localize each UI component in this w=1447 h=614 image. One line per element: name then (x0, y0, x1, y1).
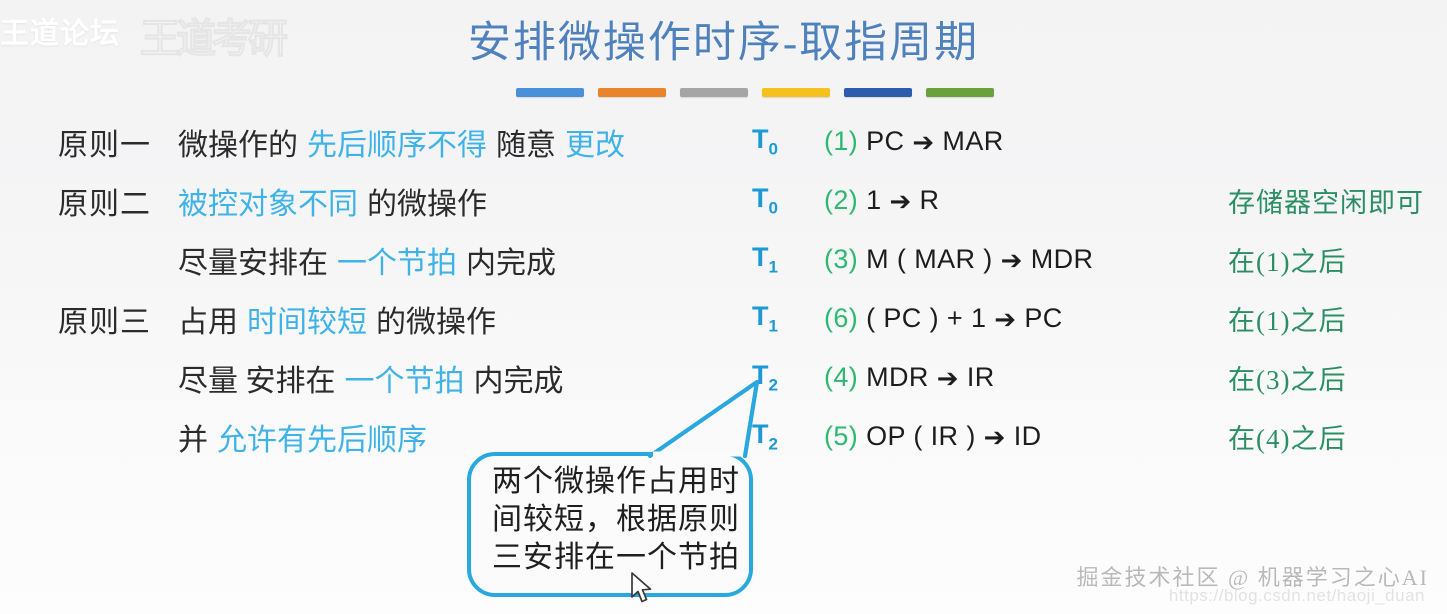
principle-plain: 内完成 (466, 247, 556, 280)
clock-cycle-label: T0 (752, 183, 824, 218)
principle-plain: 尽量安排在 (178, 247, 328, 280)
clock-letter: T (752, 183, 769, 213)
principle-row: 原则一微操作的先后顺序不得随意更改 (58, 112, 758, 171)
principle-plain: 尽量 安排在 (178, 365, 336, 398)
microop-note: 在(1)之后 (1228, 240, 1346, 279)
principle-text: 被控对象不同的微操作 (178, 179, 487, 223)
microop-note: 在(4)之后 (1228, 417, 1346, 456)
right-arrow-icon: ➔ (994, 305, 1016, 335)
microop-source: PC (866, 126, 904, 156)
principle-plain: 随意 (496, 129, 556, 162)
principle-plain: 微操作的 (178, 129, 298, 162)
principle-text: 尽量安排在一个节拍内完成 (178, 238, 556, 282)
principle-highlight: 更改 (565, 129, 625, 162)
clock-subscript: 1 (769, 257, 778, 276)
microop-source: MDR (866, 362, 929, 392)
clock-cycle-label: T0 (752, 124, 824, 159)
watermark-url: https://blog.csdn.net/haoji_duan (1169, 586, 1425, 606)
accent-bar-4 (762, 88, 830, 97)
microop-destination: IR (967, 362, 995, 392)
page-title: 安排微操作时序-取指周期 (0, 8, 1447, 70)
microop-expression: (1) PC ➔ MAR (824, 126, 1228, 157)
microop-source: 1 (866, 185, 881, 215)
principle-text: 并允许有先后顺序 (178, 415, 427, 459)
microop-note: 存储器空闲即可 (1228, 181, 1424, 220)
principle-row: 原则三占用时间较短的微操作 (58, 289, 758, 348)
microop-source: ( PC ) + 1 (866, 303, 986, 333)
microop-row: T0(2) 1 ➔ R存储器空闲即可 (752, 171, 1424, 230)
principle-plain: 占用 (178, 306, 238, 339)
microop-row: T0(1) PC ➔ MAR (752, 112, 1424, 171)
microop-expression: (3) M ( MAR ) ➔ MDR (824, 244, 1228, 275)
callout-line-3: 三安排在一个节拍 (492, 539, 742, 577)
principle-label: 原则二 (58, 179, 178, 223)
principle-highlight: 一个节拍 (345, 365, 465, 398)
clock-letter: T (752, 124, 769, 154)
clock-cycle-label: T1 (752, 301, 824, 336)
clock-letter: T (752, 301, 769, 331)
accent-bar-5 (844, 88, 912, 97)
microop-destination: PC (1024, 303, 1062, 333)
microop-expression: (5) OP ( IR ) ➔ ID (824, 421, 1228, 452)
accent-bar-group (516, 88, 994, 97)
microop-row: T2(5) OP ( IR ) ➔ ID在(4)之后 (752, 407, 1424, 466)
principle-plain: 的微操作 (376, 306, 496, 339)
principle-highlight: 先后顺序不得 (307, 129, 487, 162)
slide-canvas: 王道考研 王道论坛 安排微操作时序-取指周期 原则一微操作的先后顺序不得随意更改… (0, 0, 1447, 614)
microop-destination: MAR (942, 126, 1003, 156)
clock-letter: T (752, 242, 769, 272)
microop-source: M ( MAR ) (866, 244, 993, 274)
mouse-cursor-icon (630, 572, 656, 606)
principle-highlight: 时间较短 (247, 306, 367, 339)
microop-note: 在(3)之后 (1228, 358, 1346, 397)
principle-plain: 的微操作 (367, 188, 487, 221)
microop-row: T1(6) ( PC ) + 1 ➔ PC在(1)之后 (752, 289, 1424, 348)
callout-line-1: 两个微操作占用时 (492, 463, 742, 501)
right-arrow-icon: ➔ (984, 423, 1006, 453)
accent-bar-1 (516, 88, 584, 97)
microop-destination: R (920, 185, 940, 215)
principle-plain: 并 (178, 424, 208, 457)
microop-destination: ID (1014, 421, 1042, 451)
accent-bar-3 (680, 88, 748, 97)
callout-line-2: 间较短，根据原则 (492, 501, 742, 539)
callout-bubble: 两个微操作占用时 间较短，根据原则 三安排在一个节拍 (455, 360, 785, 610)
microop-number: (2) (824, 185, 858, 215)
right-arrow-icon: ➔ (889, 187, 911, 217)
right-arrow-icon: ➔ (912, 128, 934, 158)
principle-highlight: 一个节拍 (337, 247, 457, 280)
microop-number: (6) (824, 303, 858, 333)
microop-destination: MDR (1031, 244, 1094, 274)
accent-bar-6 (926, 88, 994, 97)
principle-text: 占用时间较短的微操作 (178, 297, 496, 341)
principle-highlight: 被控对象不同 (178, 188, 358, 221)
microop-number: (3) (824, 244, 858, 274)
microop-source: OP ( IR ) (866, 421, 976, 451)
principle-label: 原则一 (58, 120, 178, 164)
clock-subscript: 1 (769, 316, 778, 335)
principle-row: 原则二被控对象不同的微操作 (58, 171, 758, 230)
microop-note: 在(1)之后 (1228, 299, 1346, 338)
callout-text: 两个微操作占用时 间较短，根据原则 三安排在一个节拍 (492, 463, 742, 577)
clock-subscript: 0 (769, 198, 778, 217)
right-arrow-icon: ➔ (1001, 246, 1023, 276)
microop-number: (4) (824, 362, 858, 392)
microop-row: T2(4) MDR ➔ IR在(3)之后 (752, 348, 1424, 407)
principle-row: 尽量安排在一个节拍内完成 (58, 230, 758, 289)
right-arrow-icon: ➔ (937, 364, 959, 394)
principle-text: 微操作的先后顺序不得随意更改 (178, 120, 625, 164)
microop-expression: (4) MDR ➔ IR (824, 362, 1228, 393)
microop-expression: (6) ( PC ) + 1 ➔ PC (824, 303, 1228, 334)
principle-highlight: 允许有先后顺序 (217, 424, 427, 457)
microop-expression: (2) 1 ➔ R (824, 185, 1228, 216)
clock-cycle-label: T1 (752, 242, 824, 277)
clock-subscript: 0 (769, 139, 778, 158)
principle-label: 原则三 (58, 297, 178, 341)
microop-number: (1) (824, 126, 858, 156)
microop-row: T1(3) M ( MAR ) ➔ MDR在(1)之后 (752, 230, 1424, 289)
microop-table: T0(1) PC ➔ MART0(2) 1 ➔ R存储器空闲即可T1(3) M … (752, 112, 1424, 466)
accent-bar-2 (598, 88, 666, 97)
microop-number: (5) (824, 421, 858, 451)
